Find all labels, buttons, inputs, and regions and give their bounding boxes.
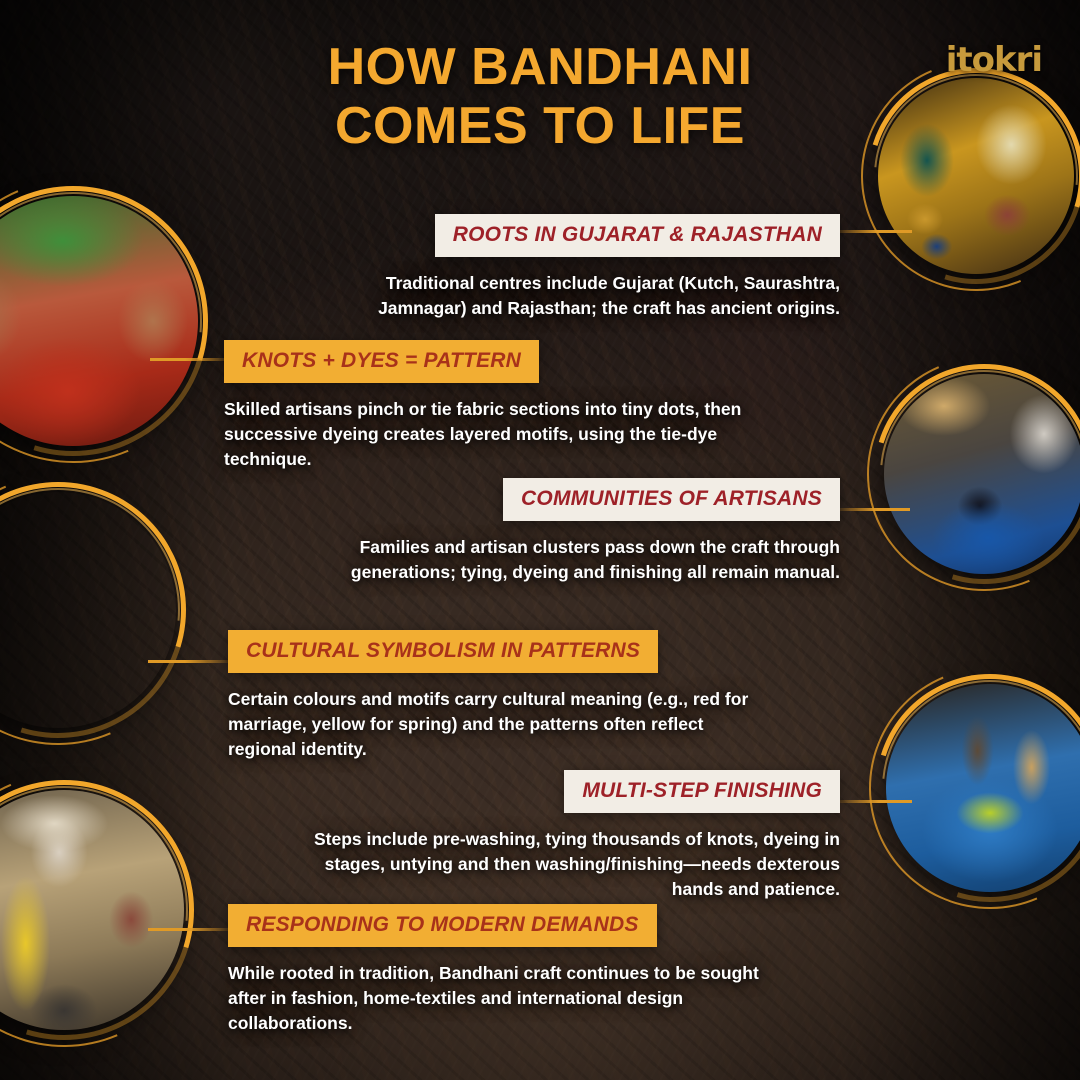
section-heading-knots-dyes[interactable]: KNOTS + DYES = PATTERN bbox=[224, 340, 539, 383]
photo-vat-blue bbox=[886, 684, 1080, 892]
title-line-2: COMES TO LIFE bbox=[0, 97, 1080, 156]
infographic-poster: HOW BANDHANI COMES TO LIFE itokri ROOTS … bbox=[0, 0, 1080, 1080]
section-heading-symbolism[interactable]: CULTURAL SYMBOLISM IN PATTERNS bbox=[228, 630, 658, 673]
section-heading-finishing[interactable]: MULTI-STEP FINISHING bbox=[564, 770, 840, 813]
brand-logo[interactable]: itokri bbox=[946, 40, 1042, 80]
section-body-modern-demands: While rooted in tradition, Bandhani craf… bbox=[228, 961, 783, 1036]
section-heading-roots[interactable]: ROOTS IN GUJARAT & RAJASTHAN bbox=[435, 214, 840, 257]
section-heading-communities[interactable]: COMMUNITIES OF ARTISANS bbox=[503, 478, 840, 521]
section-body-symbolism: Certain colours and motifs carry cultura… bbox=[228, 687, 768, 762]
section-body-communities: Families and artisan clusters pass down … bbox=[300, 535, 840, 585]
section-modern-demands: RESPONDING TO MODERN DEMANDS While roote… bbox=[228, 904, 783, 1036]
photo-man-yellow bbox=[0, 790, 184, 1030]
photo-dyer-blue bbox=[884, 374, 1080, 574]
section-communities: COMMUNITIES OF ARTISANS Families and art… bbox=[300, 478, 840, 585]
section-knots-dyes: KNOTS + DYES = PATTERN Skilled artisans … bbox=[224, 340, 764, 472]
photo-hands-red bbox=[0, 196, 198, 446]
connector-symbolism bbox=[148, 660, 230, 663]
section-finishing: MULTI-STEP FINISHING Steps include pre-w… bbox=[300, 770, 840, 902]
section-body-roots: Traditional centres include Gujarat (Kut… bbox=[300, 271, 840, 321]
connector-modern bbox=[148, 928, 230, 931]
connector-communities bbox=[838, 508, 910, 511]
connector-roots bbox=[836, 230, 912, 233]
connector-knots bbox=[150, 358, 228, 361]
section-roots: ROOTS IN GUJARAT & RAJASTHAN Traditional… bbox=[300, 214, 840, 321]
connector-finishing bbox=[838, 800, 912, 803]
title-line-1: HOW BANDHANI bbox=[0, 38, 1080, 97]
section-symbolism: CULTURAL SYMBOLISM IN PATTERNS Certain c… bbox=[228, 630, 768, 762]
section-body-knots-dyes: Skilled artisans pinch or tie fabric sec… bbox=[224, 397, 764, 472]
section-heading-modern-demands[interactable]: RESPONDING TO MODERN DEMANDS bbox=[228, 904, 657, 947]
section-body-finishing: Steps include pre-washing, tying thousan… bbox=[300, 827, 840, 902]
page-title: HOW BANDHANI COMES TO LIFE bbox=[0, 38, 1080, 156]
photo-women-seated bbox=[0, 492, 176, 728]
